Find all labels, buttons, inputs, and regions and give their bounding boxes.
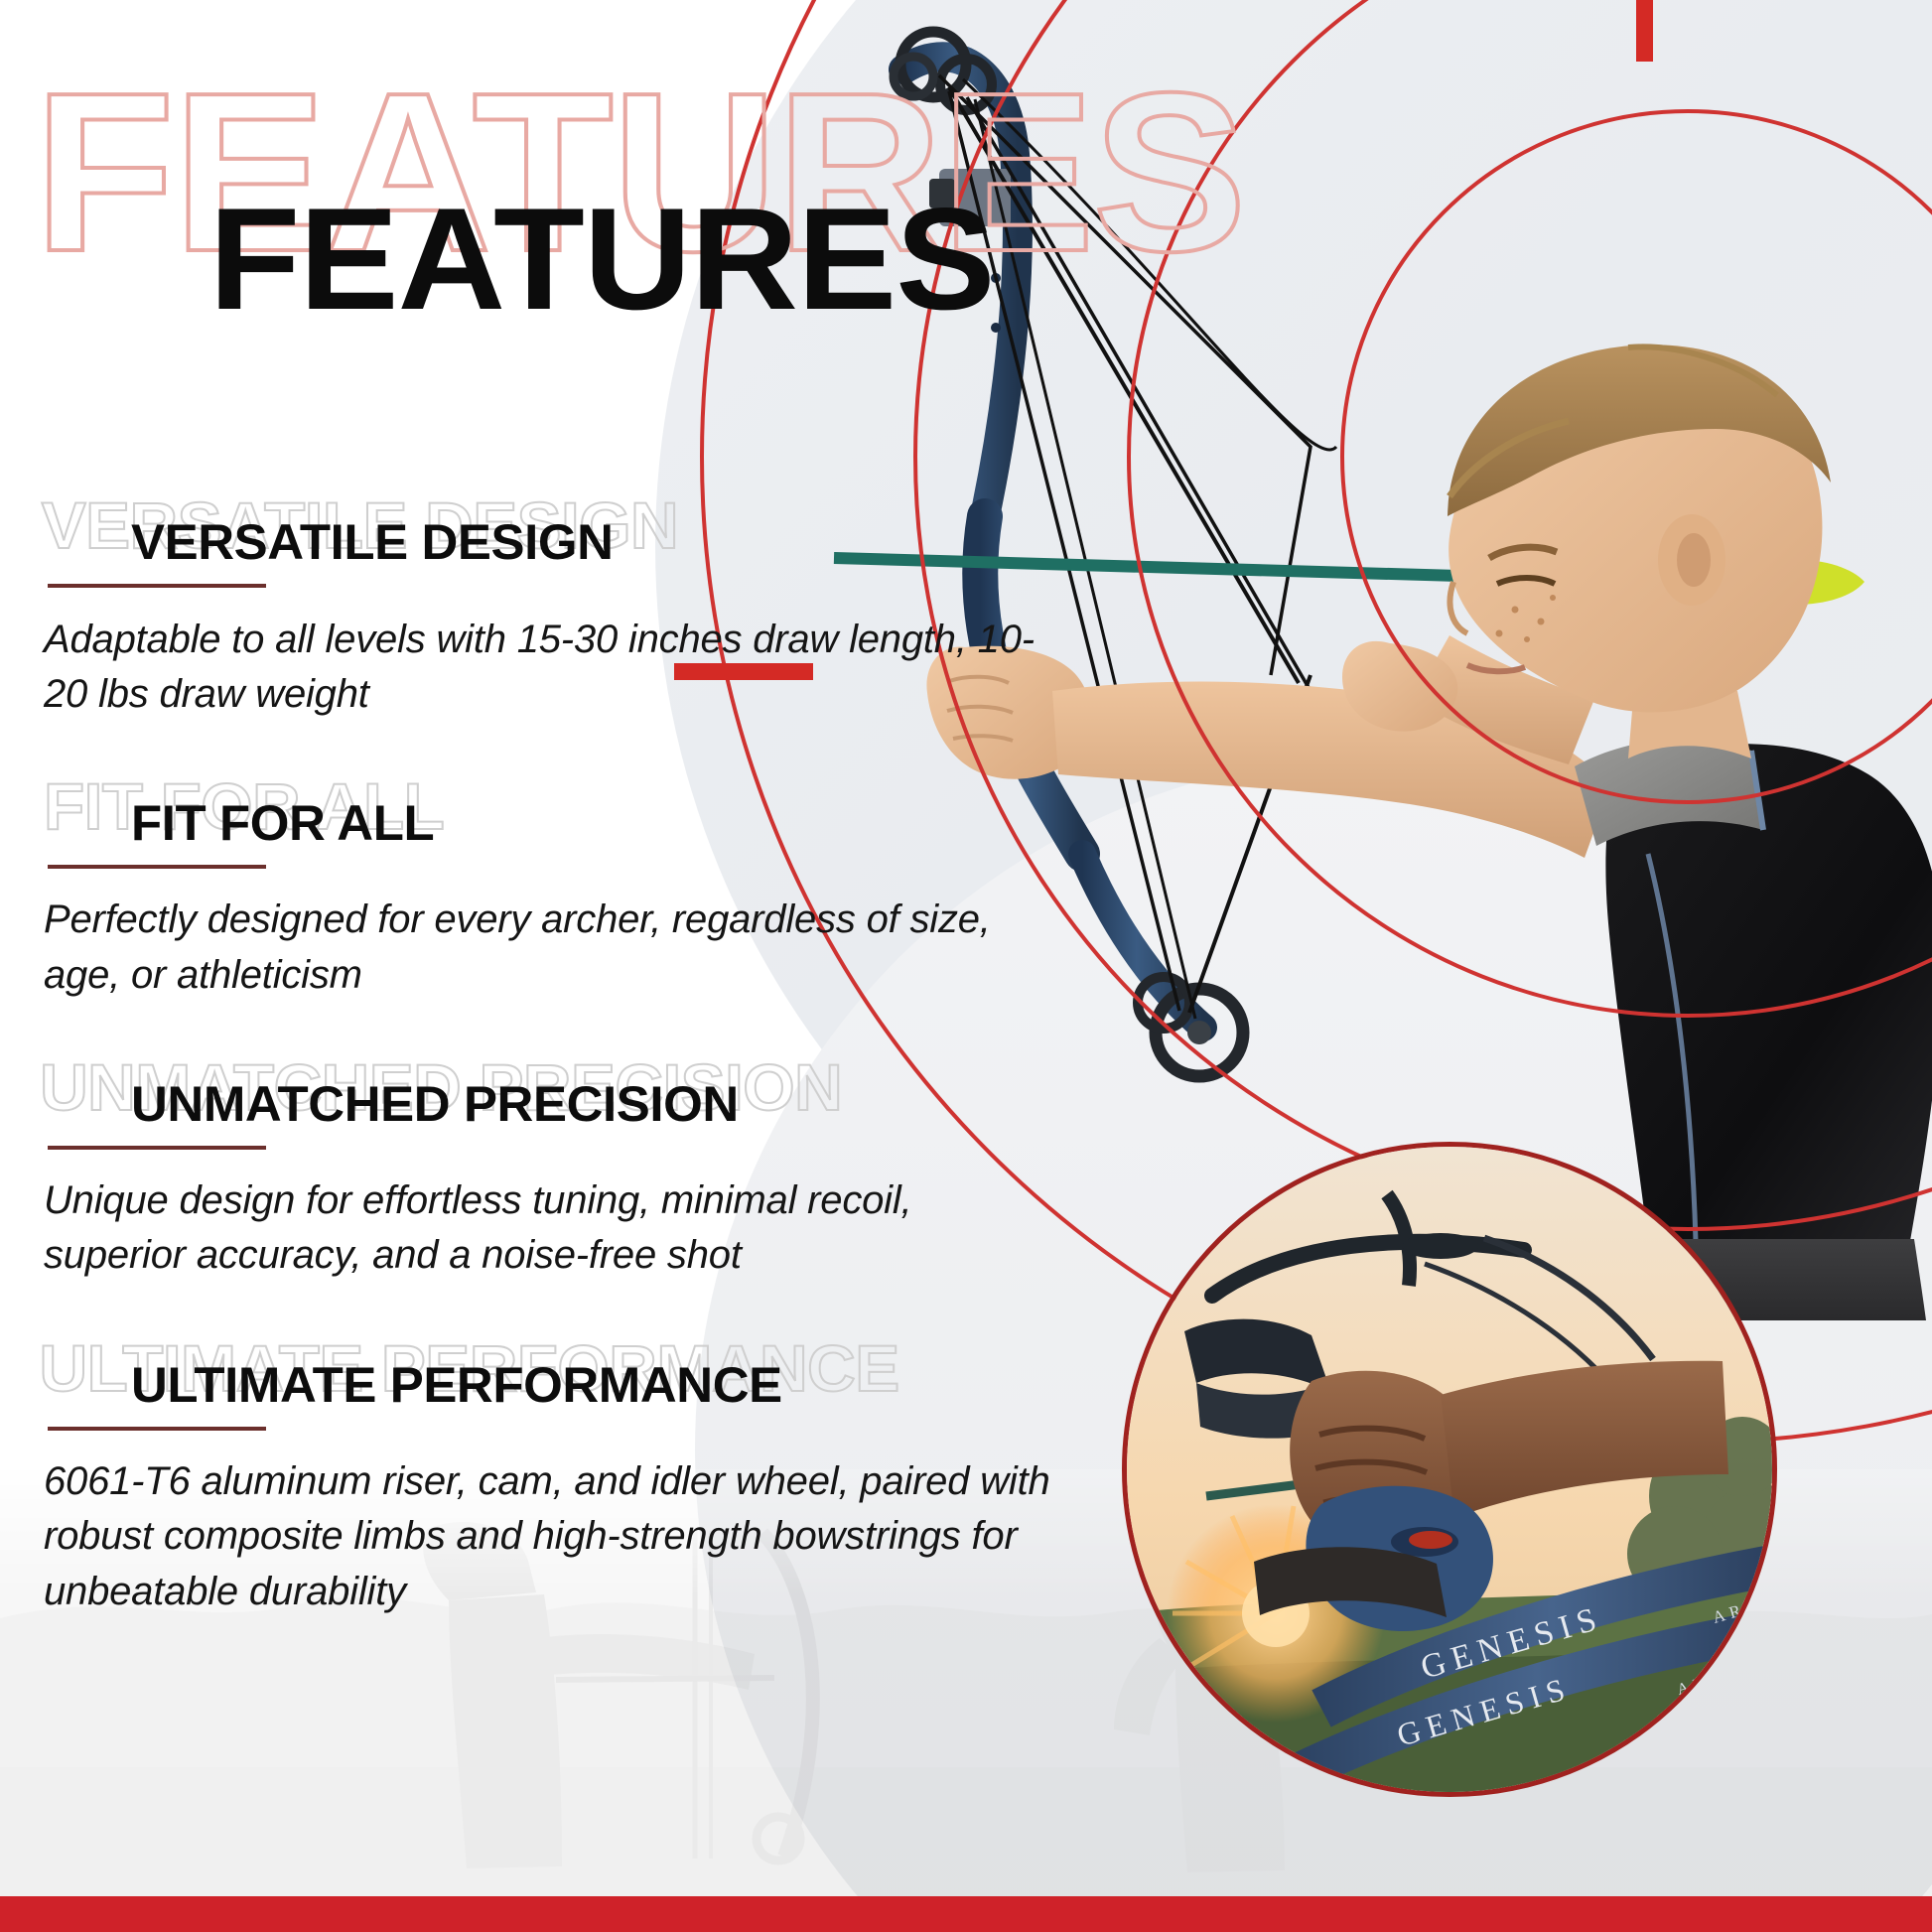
feature-body: 6061-T6 aluminum riser, cam, and idler w…: [0, 1454, 1052, 1619]
feature-title: FIT FOR ALL: [131, 797, 434, 850]
inset-bow-detail-photo: GENESIS ARCHERY GENESIS AR: [1122, 1142, 1777, 1797]
feature-underline: [48, 865, 266, 869]
feature-item-versatile-design: VERSATILE DESIGN VERSATILE DESIGN Adapta…: [0, 516, 1112, 722]
feature-underline: [48, 1146, 266, 1150]
feature-list: VERSATILE DESIGN VERSATILE DESIGN Adapta…: [0, 516, 1112, 1695]
feature-underline: [48, 584, 266, 588]
crosshair-tick-top: [1636, 0, 1653, 62]
feature-title: ULTIMATE PERFORMANCE: [131, 1359, 782, 1412]
feature-item-fit-for-all: FIT FOR ALL FIT FOR ALL Perfectly design…: [0, 797, 1112, 1003]
feature-title: VERSATILE DESIGN: [131, 516, 614, 569]
feature-title: UNMATCHED PRECISION: [131, 1078, 739, 1131]
feature-body: Perfectly designed for every archer, reg…: [0, 893, 1052, 1002]
feature-body: Unique design for effortless tuning, min…: [0, 1173, 1052, 1283]
feature-item-ultimate-performance: ULTIMATE PERFORMANCE ULTIMATE PERFORMANC…: [0, 1359, 1112, 1619]
page-title-group: FEATURES FEATURES: [0, 60, 1390, 318]
feature-underline: [48, 1427, 266, 1431]
bottom-red-bar: [0, 1896, 1932, 1932]
infographic-canvas: GENESIS ARCHERY GENESIS AR FEATURES FEAT…: [0, 0, 1932, 1932]
feature-body: Adaptable to all levels with 15-30 inche…: [0, 613, 1052, 722]
page-title: FEATURES: [208, 187, 994, 332]
feature-item-unmatched-precision: UNMATCHED PRECISION UNMATCHED PRECISION …: [0, 1078, 1112, 1284]
